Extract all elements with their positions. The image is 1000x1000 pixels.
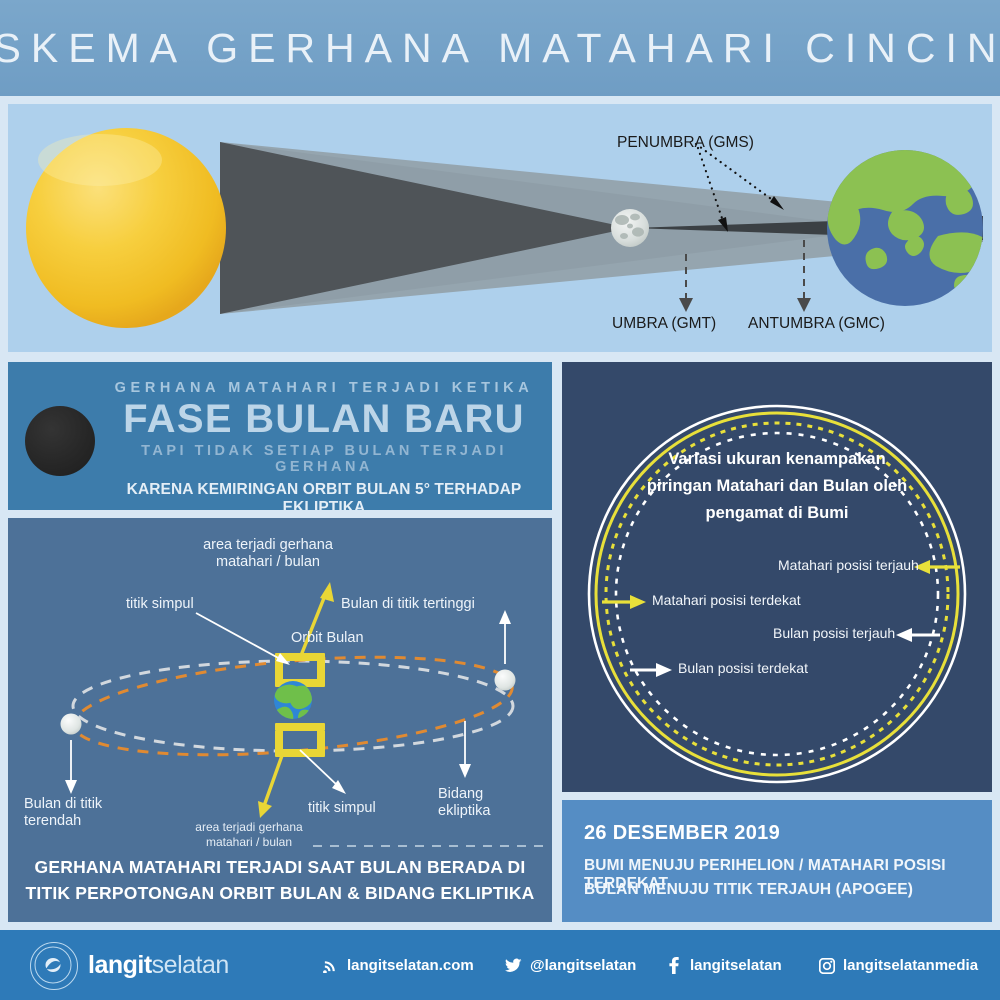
moon-highest-label: Bulan di titik tertinggi (341, 596, 475, 613)
moon-orbit-panel: area terjadi gerhana matahari / bulan ti… (8, 518, 552, 922)
penumbra-label: PENUMBRA (GMS) (617, 134, 754, 152)
brand-light: selatan (152, 951, 229, 979)
variation-title: Variasi ukuran kenampakan piringan Matah… (614, 446, 940, 527)
variation-title-line3: pengamat di Bumi (614, 500, 940, 527)
footer-item-website-label: langitselatan.com (347, 957, 474, 974)
instagram-icon (818, 957, 835, 974)
banner-text-block: GERHANA MATAHARI TERJADI KETIKA FASE BUL… (104, 372, 544, 510)
footer-item-instagram-label: langitselatanmedia (843, 957, 978, 974)
ecliptic-plane-label-line2: ekliptika (438, 803, 490, 820)
brand-wordmark: langitselatan (88, 951, 229, 980)
ecliptic-arrowhead (459, 764, 471, 778)
eclipse-area-label-top-line1: area terjadi gerhana (188, 537, 348, 554)
umbra-arrowhead (679, 298, 693, 312)
eclipse-area-label-bottom: area terjadi gerhana matahari / bulan (184, 820, 314, 850)
moon-body (611, 209, 649, 247)
antumbra-arrowhead (797, 298, 811, 312)
footer-item-instagram[interactable]: langitselatanmedia (818, 957, 978, 974)
moon-near-label: Bulan posisi terdekat (678, 660, 808, 676)
footer-item-website[interactable]: langitselatan.com (322, 957, 474, 974)
variation-title-line2: piringan Matahari dan Bulan oleh (614, 473, 940, 500)
page-title: SKEMA GERHANA MATAHARI CINCIN (0, 25, 1000, 72)
footer-item-facebook-label: langitselatan (690, 957, 782, 974)
node-label-bottom: titik simpul (308, 800, 376, 817)
event-date: 26 DESEMBER 2019 (584, 822, 780, 845)
brand-bold: langit (88, 951, 152, 979)
moon-lowest-arrowhead (65, 780, 77, 794)
banner-line-3: TAPI TIDAK SETIAP BULAN TERJADI GERHANA (104, 443, 544, 475)
banner-line-2: FASE BULAN BARU (104, 398, 544, 440)
variation-rings-svg (562, 362, 992, 792)
infographic-page: SKEMA GERHANA MATAHARI CINCIN (0, 0, 1000, 1000)
moon-lowest-label: Bulan di titik terendah (24, 796, 102, 830)
banner-line-1: GERHANA MATAHARI TERJADI KETIKA (104, 380, 544, 396)
moon-lowest-label-line1: Bulan di titik (24, 796, 102, 813)
moon-orbit-label: Orbit Bulan (291, 630, 364, 647)
new-moon-icon (25, 406, 95, 476)
moon-lowest-label-line2: terendah (24, 813, 102, 830)
moon-far-label: Bulan posisi terjauh (773, 625, 895, 641)
sun-highlight (38, 134, 162, 186)
eclipse-area-label-top-line2: matahari / bulan (188, 554, 348, 571)
variation-title-line1: Variasi ukuran kenampakan (614, 446, 940, 473)
apparent-size-variation-panel: Variasi ukuran kenampakan piringan Matah… (562, 362, 992, 792)
langitselatan-logo (30, 942, 78, 990)
moon-lowest-point (61, 714, 82, 735)
moon-highest-point (495, 670, 516, 691)
rss-icon (322, 957, 339, 974)
eclipse-area-label-bottom-line1: area terjadi gerhana (184, 820, 314, 835)
eclipse-area-arrow-top (300, 593, 326, 658)
banner-line-4: KARENA KEMIRINGAN ORBIT BULAN 5° TERHADA… (104, 481, 544, 510)
moon-highest-arrowhead (499, 610, 511, 624)
page-footer: langitselatan langitselatan.com @langits… (0, 930, 1000, 1000)
footer-item-twitter-label: @langitselatan (530, 957, 636, 974)
eclipse-geometry-scene: PENUMBRA (GMS) UMBRA (GMT) ANTUMBRA (GMC… (8, 104, 992, 352)
node-label-top: titik simpul (126, 596, 194, 613)
sun-far-arrow (914, 560, 960, 574)
earth-orbit-icon (274, 681, 312, 726)
orbit-footer-text: GERHANA MATAHARI TERJADI SAAT BULAN BERA… (8, 854, 552, 906)
sun-near-arrow (602, 595, 646, 609)
orbit-footer-line1: GERHANA MATAHARI TERJADI SAAT BULAN BERA… (8, 854, 552, 880)
facebook-icon (665, 957, 682, 974)
event-detail-line2: BULAN MENUJU TITIK TERJAUH (APOGEE) (584, 881, 913, 899)
new-moon-banner: GERHANA MATAHARI TERJADI KETIKA FASE BUL… (8, 362, 552, 510)
footer-item-twitter[interactable]: @langitselatan (505, 957, 636, 974)
event-date-box: 26 DESEMBER 2019 BUMI MENUJU PERIHELION … (562, 800, 992, 922)
ecliptic-plane-label: Bidang ekliptika (438, 786, 490, 820)
footer-item-facebook[interactable]: langitselatan (665, 957, 782, 974)
page-header: SKEMA GERHANA MATAHARI CINCIN (0, 0, 1000, 96)
logo-seal-icon (31, 943, 75, 987)
orbit-footer-line2: TITIK PERPOTONGAN ORBIT BULAN & BIDANG E… (8, 880, 552, 906)
sun-far-label: Matahari posisi terjauh (778, 557, 919, 573)
eclipse-area-arrow-bottom (264, 750, 284, 806)
antumbra-label: ANTUMBRA (GMC) (748, 315, 885, 333)
ecliptic-plane-label-line1: Bidang (438, 786, 490, 803)
node-arrow-top (196, 613, 282, 660)
umbra-label: UMBRA (GMT) (612, 315, 716, 333)
twitter-icon (505, 957, 522, 974)
sun-near-label: Matahari posisi terdekat (652, 592, 801, 608)
eclipse-area-label-bottom-line2: matahari / bulan (184, 835, 314, 850)
eclipse-area-arrowhead-bottom (258, 801, 272, 818)
earth-body (818, 144, 992, 306)
eclipse-area-label-top: area terjadi gerhana matahari / bulan (188, 537, 348, 571)
